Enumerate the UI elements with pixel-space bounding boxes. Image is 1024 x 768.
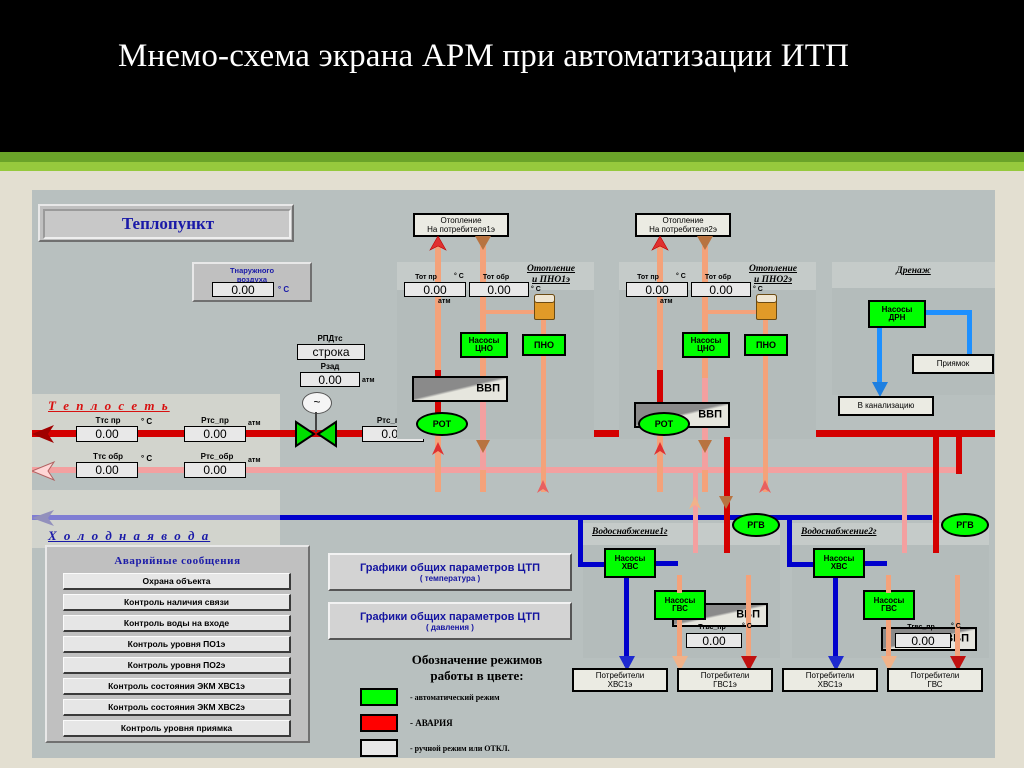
hotnet-up-arrow-2-icon bbox=[652, 442, 668, 456]
accent-bar-dark bbox=[0, 152, 1024, 162]
station-title-frame: Теплопункт bbox=[38, 204, 294, 242]
heating1-supply-arrow-icon bbox=[428, 236, 448, 252]
ws2-pump-cold-l2: ХВС bbox=[831, 563, 848, 571]
legend-title: Обозначение режимов работы в цвете: bbox=[362, 652, 592, 685]
heating2-return-arrow-icon bbox=[695, 236, 715, 252]
heating1-supply-pres-unit: атм bbox=[438, 298, 451, 305]
heating2-pump-cno-l2: ЦНО bbox=[697, 345, 715, 353]
heating2-return-temp-label: Тот обр bbox=[691, 274, 745, 281]
heating2-regulator[interactable]: РОТ bbox=[638, 412, 690, 436]
chart-button-temperature[interactable]: Графики общих параметров ЦТП ( температу… bbox=[328, 553, 572, 591]
alarm-item-6[interactable]: Контроль состояния ЭКМ ХВС2э bbox=[63, 699, 291, 716]
heating1-return-temp-value[interactable]: 0.00 bbox=[469, 282, 529, 297]
slide-root: Мнемо-схема экрана АРМ при автоматизации… bbox=[0, 0, 1024, 768]
valve-actuator-icon[interactable]: ~ bbox=[302, 392, 332, 414]
heating1-pump-cno-l2: ЦНО bbox=[475, 345, 493, 353]
heating2-pno[interactable]: ПНО bbox=[744, 334, 788, 356]
pzad-value[interactable]: 0.00 bbox=[300, 372, 360, 387]
alarm-item-0[interactable]: Охрана объекта bbox=[63, 573, 291, 590]
outdoor-temp-frame: Тнаружного воздуха 0.00 ° С bbox=[192, 262, 312, 302]
heating1-return-temp-unit: ° С bbox=[531, 286, 541, 293]
heating1-exchanger-label: ВВП bbox=[476, 382, 500, 394]
station-title: Теплопункт bbox=[40, 214, 296, 234]
consumer-box-1-l2: ГВС1э bbox=[713, 680, 737, 689]
page-title: Мнемо-схема экрана АРМ при автоматизации… bbox=[118, 36, 878, 76]
alarm-item-5[interactable]: Контроль состояния ЭКМ ХВС1э bbox=[63, 678, 291, 695]
alarm-item-7[interactable]: Контроль уровня приямка bbox=[63, 720, 291, 737]
legend-swatch-auto bbox=[360, 688, 398, 706]
chart-button-temperature-l1: Графики общих параметров ЦТП bbox=[360, 562, 540, 574]
consumer-box-2: Потребители ХВС1э bbox=[782, 668, 878, 692]
watersupply-1-pump-cold[interactable]: Насосы ХВС bbox=[604, 548, 656, 578]
watersupply-2-pump-hot[interactable]: Насосы ГВС bbox=[863, 590, 915, 620]
watersupply-1-regulator[interactable]: РГВ bbox=[732, 513, 780, 537]
heating1-return-temp-label: Тот обр bbox=[469, 274, 523, 281]
heating2-pno-label: ПНО bbox=[756, 341, 776, 350]
heating2-return-temp-unit: ° С bbox=[753, 286, 763, 293]
alarm-panel: Аварийные сообщения Охрана объекта Контр… bbox=[45, 545, 310, 743]
ws2-pump-hot-l2: ГВС bbox=[881, 605, 897, 613]
alarm-item-3[interactable]: Контроль уровня ПО1э bbox=[63, 636, 291, 653]
heatnet-return-temp-label: Ттс обр bbox=[76, 452, 140, 461]
heatnet-supply-pres-unit: атм bbox=[248, 420, 261, 427]
heating2-supply-pres-unit: атм bbox=[660, 298, 673, 305]
pipe-ws1-hot-riser bbox=[677, 575, 682, 593]
pipe-ws-hot-return-2 bbox=[902, 473, 907, 553]
heating-consumer-box-2-line1: Отопление bbox=[662, 216, 703, 225]
heatnet-return-temp-value[interactable]: 0.00 bbox=[76, 462, 138, 478]
drainage-pit-label: Приямок bbox=[937, 359, 969, 368]
pipe-ws2-cold-riser bbox=[787, 517, 792, 567]
outdoor-temp-value[interactable]: 0.00 bbox=[212, 282, 274, 297]
heating2-supply-temp-unit: ° С bbox=[676, 273, 686, 280]
pipe-ws-hot-feed-2 bbox=[933, 437, 939, 553]
heating2-supply-temp-label: Тот пр bbox=[622, 274, 674, 281]
heating1-expansion-tank-top bbox=[534, 294, 555, 303]
consumer-box-0: Потребители ХВС1э bbox=[572, 668, 668, 692]
rpd-label: РПДтс bbox=[300, 334, 360, 343]
heating1-exchanger[interactable]: ВВП bbox=[412, 376, 508, 402]
pipe-ws1-cold-out bbox=[624, 578, 629, 666]
legend-title-l2: работы в цвете: bbox=[362, 668, 592, 684]
legend-text-alarm: - АВАРИЯ bbox=[410, 718, 453, 728]
heatnet-return-pres-value[interactable]: 0.00 bbox=[184, 462, 246, 478]
consumer-box-3: Потребители ГВС bbox=[887, 668, 983, 692]
return-up-arrow-1-icon bbox=[535, 480, 551, 494]
drainage-pit: Приямок bbox=[912, 354, 994, 374]
control-valve-icon[interactable] bbox=[294, 418, 338, 450]
heating2-return-temp-value[interactable]: 0.00 bbox=[691, 282, 751, 297]
heatnet-return-pres-label: Ртс_обр bbox=[182, 452, 252, 461]
consumer-box-0-l1: Потребители bbox=[596, 671, 644, 680]
ws2-regulator-label: РГВ bbox=[956, 520, 974, 530]
alarm-panel-title: Аварийные сообщения bbox=[47, 555, 308, 567]
heating2-supply-temp-value[interactable]: 0.00 bbox=[626, 282, 688, 297]
heating2-supply-arrow-icon bbox=[650, 236, 670, 252]
heating2-regulator-label: РОТ bbox=[655, 419, 673, 429]
pipe-ws2-hot-riser bbox=[886, 575, 891, 593]
chart-button-pressure-l1: Графики общих параметров ЦТП bbox=[360, 611, 540, 623]
heating1-supply-temp-value[interactable]: 0.00 bbox=[404, 282, 466, 297]
ws1-pump-cold-l2: ХВС bbox=[622, 563, 639, 571]
pipe-drain-down bbox=[877, 328, 882, 390]
consumer-box-1-l1: Потребители bbox=[701, 671, 749, 680]
legend-text-auto: - автоматический режим bbox=[410, 693, 500, 702]
consumer-box-0-l2: ХВС1э bbox=[608, 680, 633, 689]
watersupply-1-pump-hot[interactable]: Насосы ГВС bbox=[654, 590, 706, 620]
pipe-ws2-pump-to-vvp bbox=[865, 561, 887, 566]
heatnet-supply-pres-value[interactable]: 0.00 bbox=[184, 426, 246, 442]
hotnet-up-arrow-1-icon bbox=[430, 442, 446, 456]
heating1-regulator[interactable]: РОТ bbox=[416, 412, 468, 436]
ws1-pump-hot-l2: ГВС bbox=[672, 605, 688, 613]
heating-consumer-box-2-line2: На потребителя2э bbox=[649, 225, 717, 234]
heatnet-supply-temp-unit: ° С bbox=[141, 417, 152, 426]
mnemonic-panel: Теплопункт Тнаружного воздуха 0.00 ° С Р… bbox=[32, 190, 995, 758]
ws1-temp-label: Тгвс_пр bbox=[684, 624, 740, 631]
pipe-ws1-cold-riser bbox=[578, 517, 583, 567]
consumer-box-3-l2: ГВС bbox=[927, 680, 942, 689]
alarm-item-2[interactable]: Контроль воды на входе bbox=[63, 615, 291, 632]
chart-button-pressure[interactable]: Графики общих параметров ЦТП ( давления … bbox=[328, 602, 572, 640]
drainage-pump-l2: ДРН bbox=[889, 314, 906, 322]
pipe-ws1-gvs-out bbox=[746, 575, 751, 666]
legend-swatch-alarm bbox=[360, 714, 398, 732]
heatnet-supply-pres-label: Ртс_пр bbox=[182, 416, 248, 425]
rpd-value[interactable]: строка bbox=[297, 344, 365, 360]
heating1-regulator-label: РОТ bbox=[433, 419, 451, 429]
heatnet-title: Т е п л о с е т ь bbox=[48, 398, 170, 414]
pipe-ws2-cold-out bbox=[833, 578, 838, 666]
consumer-box-2-l2: ХВС1э bbox=[818, 680, 843, 689]
chart-button-temperature-l2: ( температура ) bbox=[420, 574, 480, 583]
heating1-return-arrow-icon bbox=[473, 236, 493, 252]
heatnet-return-pres-unit: атм bbox=[248, 457, 261, 464]
outdoor-temp-unit: ° С bbox=[278, 285, 289, 294]
drainage-outlet: В канализацию bbox=[838, 396, 934, 416]
return-up-arrow-2-icon bbox=[757, 480, 773, 494]
heating-consumer-box-1: Отопление На потребителя1э bbox=[413, 213, 509, 237]
watersupply-2-pump-cold[interactable]: Насосы ХВС bbox=[813, 548, 865, 578]
pipe-heatnet-return bbox=[32, 467, 962, 473]
ws2-temp-label: Тгвс_пр bbox=[893, 624, 949, 631]
heating1-pno-label: ПНО bbox=[534, 341, 554, 350]
outdoor-temp-label-1: Тнаружного bbox=[194, 266, 310, 275]
ws1-temp-value[interactable]: 0.00 bbox=[686, 633, 742, 648]
pipe-hotnet-right-drop bbox=[956, 430, 962, 474]
ws1-feed-up-arrow-icon bbox=[687, 496, 703, 510]
ws2-temp-value[interactable]: 0.00 bbox=[895, 633, 951, 648]
pipe-ws-hot-return-1 bbox=[693, 473, 698, 553]
drainage-title: Дренаж bbox=[832, 266, 995, 277]
hotnet-down-arrow-2-icon bbox=[697, 440, 713, 454]
heating2-pump-cno[interactable]: Насосы ЦНО bbox=[682, 332, 730, 358]
pipe-ws-hot-feed-1 bbox=[724, 437, 730, 553]
alarm-item-4[interactable]: Контроль уровня ПО2э bbox=[63, 657, 291, 674]
pipe-drain-to-pit-v bbox=[967, 310, 972, 358]
heatnet-return-temp-unit: ° С bbox=[141, 454, 152, 463]
heating1-supply-temp-label: Тот пр bbox=[400, 274, 452, 281]
pipe-ws1-pump-to-vvp bbox=[656, 561, 678, 566]
watersupply-2-regulator[interactable]: РГВ bbox=[941, 513, 989, 537]
chart-button-pressure-l2: ( давления ) bbox=[426, 623, 474, 632]
heatnet-supply-arrow-icon bbox=[32, 424, 66, 444]
ws2-temp-unit: ° С bbox=[951, 623, 961, 630]
drainage-pump[interactable]: Насосы ДРН bbox=[868, 300, 926, 328]
consumer-box-2-l1: Потребители bbox=[806, 671, 854, 680]
heating2-expansion-tank-top bbox=[756, 294, 777, 303]
coldwater-title: Х о л о д н а я в о д а bbox=[48, 528, 210, 544]
heatnet-supply-temp-value[interactable]: 0.00 bbox=[76, 426, 138, 442]
drainage-outlet-label: В канализацию bbox=[858, 401, 915, 410]
heatnet-return-arrow-icon bbox=[32, 461, 66, 481]
heating-consumer-box-1-line2: На потребителя1э bbox=[427, 225, 495, 234]
pzad-unit: атм bbox=[362, 377, 375, 384]
legend-text-manual: - ручной режим или ОТКЛ. bbox=[410, 744, 510, 753]
legend-swatch-manual bbox=[360, 739, 398, 757]
pipe-ws2-gvs-out bbox=[955, 575, 960, 666]
heating1-pump-cno[interactable]: Насосы ЦНО bbox=[460, 332, 508, 358]
alarm-item-1[interactable]: Контроль наличия связи bbox=[63, 594, 291, 611]
heating1-pno[interactable]: ПНО bbox=[522, 334, 566, 356]
ws1-regulator-label: РГВ bbox=[747, 520, 765, 530]
ws1-temp-unit: ° С bbox=[742, 623, 752, 630]
title-band bbox=[0, 0, 1024, 152]
pipe-drain-to-pit-h bbox=[926, 310, 972, 315]
heatnet-supply-temp-label: Ттс пр bbox=[76, 416, 140, 425]
consumer-box-3-l1: Потребители bbox=[911, 671, 959, 680]
consumer-box-1: Потребители ГВС1э bbox=[677, 668, 773, 692]
heating-consumer-box-1-line1: Отопление bbox=[440, 216, 481, 225]
heating2-exchanger-label: ВВП bbox=[698, 408, 722, 420]
hotnet-down-arrow-1-icon bbox=[475, 440, 491, 454]
accent-bar-light bbox=[0, 162, 1024, 171]
pzad-label: Рзад bbox=[300, 362, 360, 371]
ws1-feed-down-arrow-icon bbox=[718, 496, 734, 510]
legend-title-l1: Обозначение режимов bbox=[362, 652, 592, 668]
heating1-supply-temp-unit: ° С bbox=[454, 273, 464, 280]
heating-consumer-box-2: Отопление На потребителя2э bbox=[635, 213, 731, 237]
